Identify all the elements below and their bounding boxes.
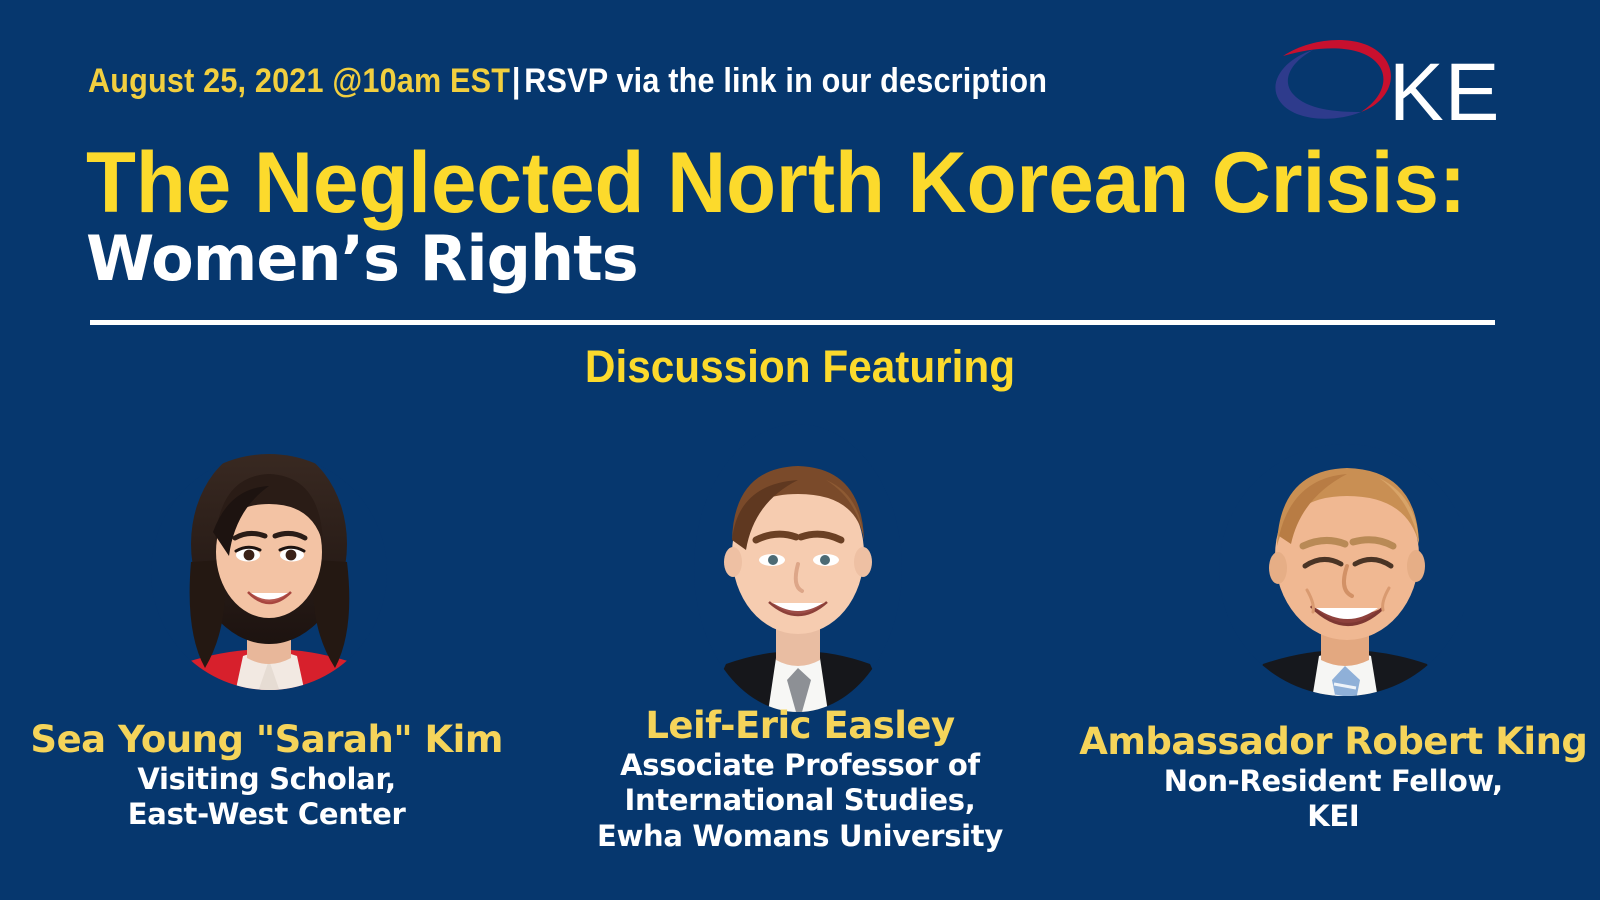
discussion-featuring-label: Discussion Featuring — [48, 344, 1552, 389]
speaker-name: Leif-Eric Easley — [533, 706, 1066, 746]
portrait-sea-young-sarah-kim — [147, 412, 392, 712]
speaker-card: Ambassador Robert King Non-Resident Fell… — [1067, 412, 1600, 900]
speaker-role: Associate Professor of International Stu… — [533, 748, 1066, 854]
speaker-card: Sea Young "Sarah" Kim Visiting Scholar, … — [0, 412, 533, 900]
logo-wordmark: KEI — [1389, 47, 1500, 138]
speaker-role: Visiting Scholar, East-West Center — [0, 762, 533, 833]
speaker-text: Leif-Eric Easley Associate Professor of … — [533, 706, 1066, 854]
speaker-role-line: International Studies, — [533, 783, 1066, 818]
horizontal-divider — [90, 320, 1495, 325]
speaker-role: Non-Resident Fellow, KEI — [1067, 764, 1600, 835]
speaker-card: Leif-Eric Easley Associate Professor of … — [533, 412, 1066, 900]
speaker-text: Sea Young "Sarah" Kim Visiting Scholar, … — [0, 720, 533, 833]
speaker-text: Ambassador Robert King Non-Resident Fell… — [1067, 722, 1600, 835]
speaker-role-line: Ewha Womans University — [533, 819, 1066, 854]
speaker-name: Ambassador Robert King — [1067, 722, 1600, 762]
separator-pipe: | — [510, 62, 524, 100]
page-subtitle: Women’s Rights — [86, 228, 638, 290]
portrait-ambassador-robert-king — [1219, 430, 1464, 730]
logo-blue-arc — [1275, 50, 1361, 119]
speakers-row: Sea Young "Sarah" Kim Visiting Scholar, … — [0, 412, 1600, 900]
speaker-name: Sea Young "Sarah" Kim — [0, 720, 533, 760]
speaker-role-line: KEI — [1067, 799, 1600, 834]
rsvp-text: RSVP via the link in our description — [524, 62, 1047, 100]
event-poster: August 25, 2021 @10am EST|RSVP via the l… — [0, 0, 1600, 900]
event-date-text: August 25, 2021 @10am EST — [88, 62, 510, 100]
portrait-leif-eric-easley — [676, 412, 921, 712]
kei-logo: KEI — [1265, 28, 1500, 138]
speaker-role-line: East-West Center — [0, 797, 533, 832]
speaker-role-line: Non-Resident Fellow, — [1067, 764, 1600, 799]
speaker-role-line: Associate Professor of — [533, 748, 1066, 783]
event-date-rsvp-line: August 25, 2021 @10am EST|RSVP via the l… — [88, 62, 1047, 101]
speaker-role-line: Visiting Scholar, — [0, 762, 533, 797]
page-title: The Neglected North Korean Crisis: — [86, 140, 1466, 226]
